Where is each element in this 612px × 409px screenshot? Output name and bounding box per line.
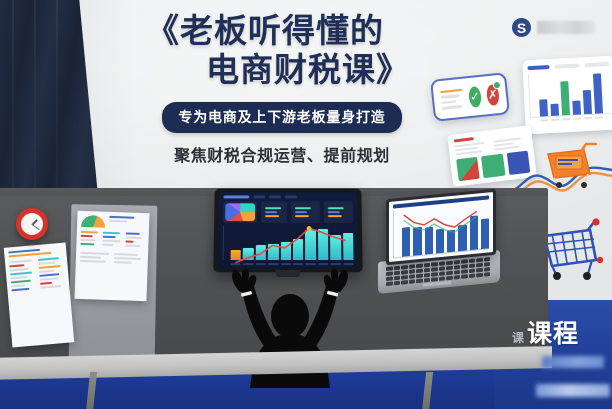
brand-logo: S [512, 18, 595, 37]
title-line-2: 电商财税课》 [108, 53, 456, 88]
bar-chart-plot [528, 70, 612, 118]
report-sheet-front [4, 242, 74, 347]
card-text-lines [440, 88, 464, 109]
subtitle-pill: 专为电商及上下游老板量身打造 [162, 102, 401, 133]
tablet-bar-chart [223, 226, 354, 260]
tablet-device [213, 189, 363, 273]
tablet-dashboard-screen [218, 193, 357, 269]
card-header [527, 62, 609, 70]
redacted-text-1 [542, 356, 604, 368]
brand-mark-icon: S [512, 18, 531, 37]
check-icon: ✓ [468, 85, 482, 107]
promo-banner: S 《老板听得懂的 电商财税课》 专为电商及上下游老板量身打造 聚焦财税合规运营… [0, 0, 612, 409]
report-sheet-back [74, 211, 149, 301]
compliance-check-card: ✓ ✗ [430, 72, 510, 122]
tablet-trend-line [230, 226, 353, 268]
orange-shopping-cart-icon [538, 142, 600, 190]
gauge-chart [81, 215, 105, 228]
report-title-bar [454, 137, 474, 142]
course-partial-char: 课 [512, 329, 525, 346]
laptop-device [378, 194, 500, 290]
course-footer-text: 课 课程 [512, 322, 579, 347]
bar-chart-card [522, 56, 612, 135]
laptop-chart-screen [389, 192, 493, 262]
laptop-bar-chart [393, 201, 489, 258]
wall-clock-icon [16, 208, 48, 240]
dashboard-widgets [223, 201, 353, 223]
brand-name-redacted [537, 21, 595, 34]
title-block: 《老板听得懂的 电商财税课》 专为电商及上下游老板量身打造 聚焦财税合规运营、提… [108, 14, 456, 166]
subtitle-line: 聚焦财税合规运营、提前规划 [108, 142, 456, 166]
dashboard-topbar [224, 195, 353, 198]
brand-mark-glyph: S [517, 21, 526, 35]
redacted-text-2 [536, 384, 610, 397]
cross-icon: ✗ [486, 84, 500, 106]
laptop-lid [386, 189, 496, 266]
title-line-1: 《老板听得懂的 [108, 14, 456, 49]
course-label: 课程 [527, 322, 579, 347]
clock-face [21, 213, 43, 235]
